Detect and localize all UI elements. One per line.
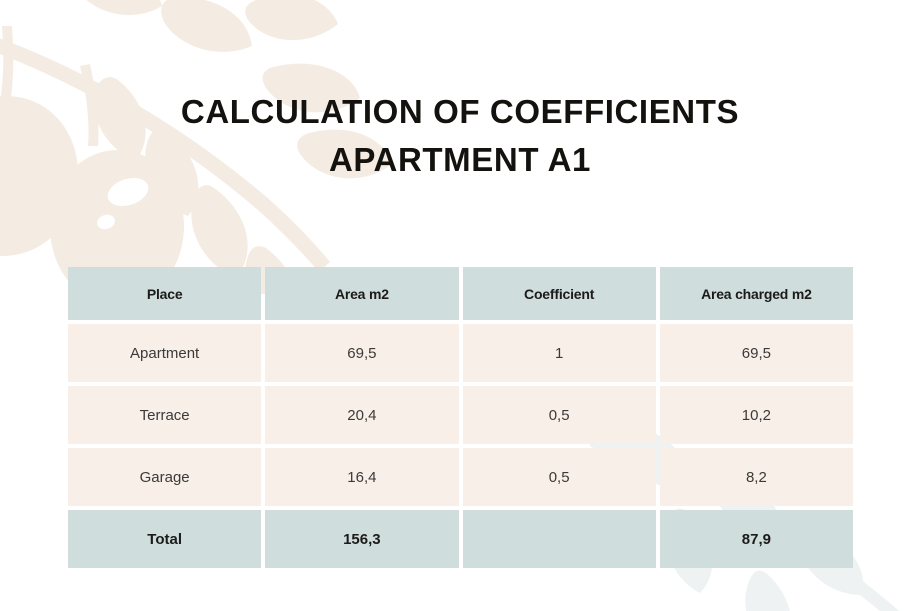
cell-coefficient: 0,5 [463, 448, 656, 506]
coefficients-table: Place Area m2 Coefficient Area charged m… [68, 267, 853, 568]
cell-place: Apartment [68, 324, 261, 382]
table-total-row: Total 156,3 87,9 [68, 510, 853, 568]
slide-canvas: CALCULATION OF COEFFICIENTS APARTMENT A1… [0, 0, 920, 611]
cell-place: Garage [68, 448, 261, 506]
cell-coefficient: 1 [463, 324, 656, 382]
cell-area-charged: 10,2 [660, 386, 853, 444]
cell-area: 69,5 [265, 324, 458, 382]
cell-total-area-charged: 87,9 [660, 510, 853, 568]
cell-place: Terrace [68, 386, 261, 444]
table-row: Garage 16,4 0,5 8,2 [68, 448, 853, 506]
column-header-area-charged: Area charged m2 [660, 267, 853, 320]
column-header-place: Place [68, 267, 261, 320]
column-header-area: Area m2 [265, 267, 458, 320]
table-header-row: Place Area m2 Coefficient Area charged m… [68, 267, 853, 320]
title-line-2: APARTMENT A1 [0, 136, 920, 184]
column-header-coefficient: Coefficient [463, 267, 656, 320]
cell-area-charged: 8,2 [660, 448, 853, 506]
title-line-1: CALCULATION OF COEFFICIENTS [0, 88, 920, 136]
cell-total-area: 156,3 [265, 510, 458, 568]
cell-area: 20,4 [265, 386, 458, 444]
cell-area-charged: 69,5 [660, 324, 853, 382]
cell-total-coefficient [463, 510, 656, 568]
table-row: Apartment 69,5 1 69,5 [68, 324, 853, 382]
cell-total-label: Total [68, 510, 261, 568]
page-title: CALCULATION OF COEFFICIENTS APARTMENT A1 [0, 88, 920, 184]
table-row: Terrace 20,4 0,5 10,2 [68, 386, 853, 444]
cell-area: 16,4 [265, 448, 458, 506]
cell-coefficient: 0,5 [463, 386, 656, 444]
